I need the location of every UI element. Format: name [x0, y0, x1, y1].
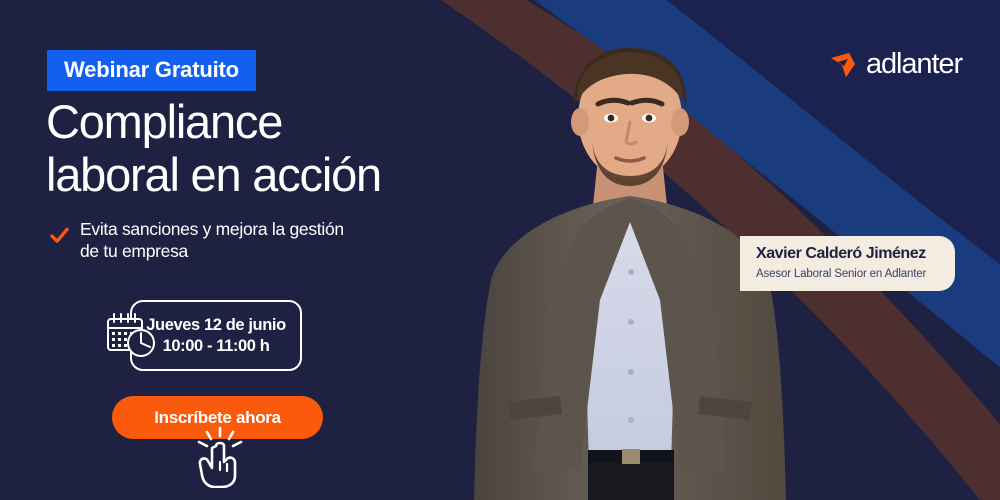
- speaker-role: Asesor Laboral Senior en Adlanter: [756, 268, 955, 281]
- webinar-promo-banner: Webinar Gratuito Compliance laboral en a…: [0, 0, 1000, 500]
- benefit-bullet-text: Evita sanciones y mejora la gestión de t…: [80, 218, 344, 263]
- speaker-name: Xavier Calderó Jiménez: [756, 245, 955, 263]
- benefit-line-2: de tu empresa: [80, 240, 344, 262]
- benefit-bullet: Evita sanciones y mejora la gestión de t…: [50, 218, 460, 263]
- schedule-date: Jueves 12 de junio: [146, 317, 286, 334]
- page-title: Compliance laboral en acción: [46, 96, 466, 201]
- adlanter-logomark-icon: [829, 51, 857, 79]
- headline-line-2: laboral en acción: [46, 149, 466, 202]
- adlanter-wordmark: adlanter: [866, 50, 962, 79]
- check-icon: [50, 226, 69, 245]
- calendar-clock-icon: [105, 310, 157, 360]
- schedule-time: 10:00 - 11:00 h: [163, 338, 270, 355]
- speaker-name-card: Xavier Calderó Jiménez Asesor Laboral Se…: [740, 236, 955, 291]
- benefit-line-1: Evita sanciones y mejora la gestión: [80, 218, 344, 240]
- headline-line-1: Compliance: [46, 96, 466, 149]
- brand-logo: adlanter: [829, 50, 962, 79]
- content-column: Webinar Gratuito Compliance laboral en a…: [0, 0, 470, 500]
- pointing-hand-click-icon: [191, 426, 249, 488]
- free-webinar-badge: Webinar Gratuito: [47, 50, 256, 91]
